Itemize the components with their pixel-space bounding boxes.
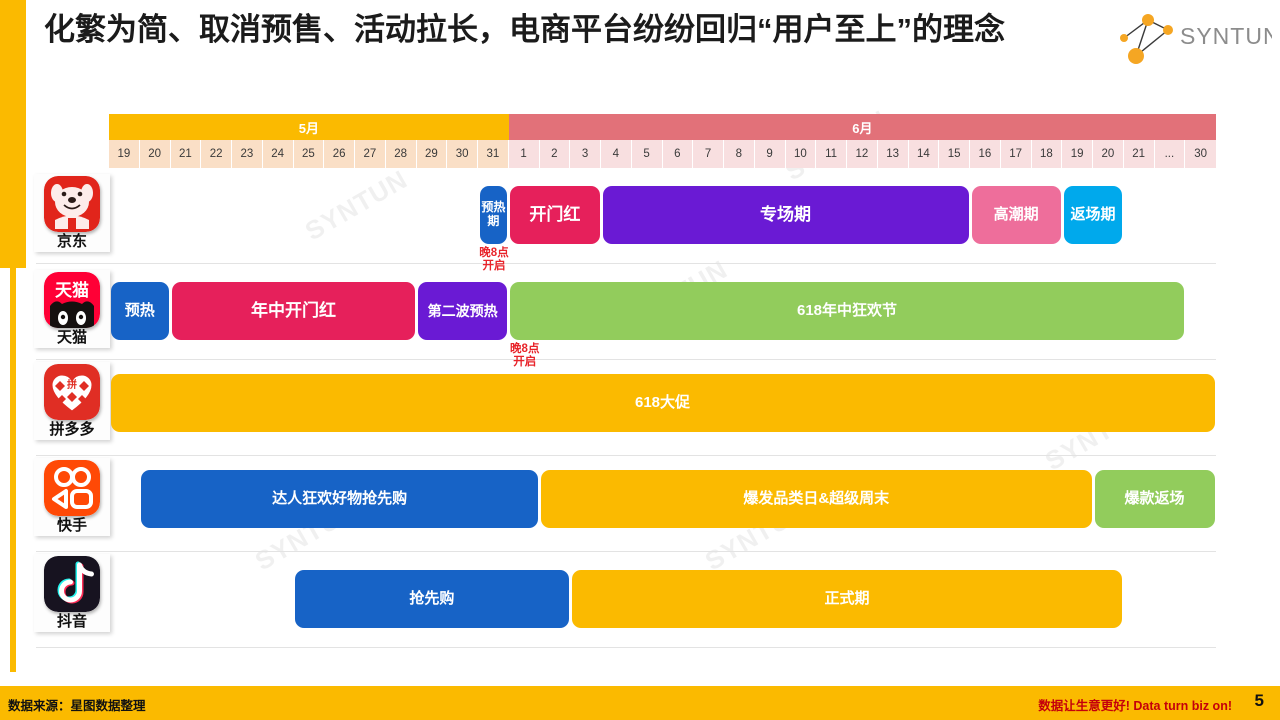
day-cell: 23 <box>232 140 263 168</box>
timeline-bar-天猫-2[interactable]: 年中开门红 <box>172 282 415 340</box>
day-cell: 10 <box>786 140 817 168</box>
day-cell: 18 <box>1032 140 1063 168</box>
page-number: 5 <box>1255 691 1264 711</box>
platform-row-拼多多: 拼拼多多618大促 <box>0 360 1280 456</box>
day-cell: 24 <box>263 140 294 168</box>
page-title: 化繁为简、取消预售、活动拉长，电商平台纷纷回归“用户至上”的理念 <box>44 10 1124 50</box>
month-header-1: 5月 <box>109 114 509 140</box>
platform-row-抖音: 抖音抢先购正式期 <box>0 552 1280 648</box>
svg-text:SYNTUN: SYNTUN <box>1180 23 1272 49</box>
platform-badge-拼多多[interactable]: 拼拼多多 <box>34 362 110 440</box>
platform-badge-快手[interactable]: 快手 <box>34 458 110 536</box>
jd-dog-icon <box>44 176 100 232</box>
day-header-row: 1920212223242526272829303112345678910111… <box>109 140 1216 168</box>
platform-row-快手: 快手达人狂欢好物抢先购爆发品类日&超级周末爆款返场 <box>0 456 1280 552</box>
day-cell: 2 <box>540 140 571 168</box>
day-cell: 19 <box>109 140 140 168</box>
day-cell: 19 <box>1062 140 1093 168</box>
timeline-grid: 5月6月 19202122232425262728293031123456789… <box>109 114 1216 168</box>
day-cell: 21 <box>171 140 202 168</box>
day-cell: 7 <box>693 140 724 168</box>
day-cell: 16 <box>970 140 1001 168</box>
day-cell: 27 <box>355 140 386 168</box>
douyin-icon <box>44 556 100 612</box>
timeline-bar-京东-3[interactable]: 专场期 <box>603 186 969 244</box>
platform-name: 快手 <box>57 517 87 535</box>
day-cell: 20 <box>1093 140 1124 168</box>
timeline-bar-拼多多-1[interactable]: 618大促 <box>111 374 1215 432</box>
month-header-row: 5月6月 <box>109 114 1216 140</box>
platform-name: 天猫 <box>57 329 87 347</box>
platform-name: 拼多多 <box>49 421 94 439</box>
day-cell: 26 <box>324 140 355 168</box>
timeline-bar-快手-2[interactable]: 爆发品类日&超级周末 <box>541 470 1092 528</box>
footer-slogan: 数据让生意更好! Data turn biz on! <box>1038 695 1232 714</box>
data-source-label: 数据来源：星图数据整理 <box>8 695 146 714</box>
timeline-bar-京东-4[interactable]: 高潮期 <box>972 186 1061 244</box>
day-cell: 29 <box>417 140 448 168</box>
svg-text:天猫: 天猫 <box>55 280 89 300</box>
day-cell: 31 <box>478 140 509 168</box>
platform-badge-天猫[interactable]: 天猫 天猫 <box>34 270 110 348</box>
day-cell: 17 <box>1001 140 1032 168</box>
day-cell: 6 <box>663 140 694 168</box>
syntun-logo: SYNTUN <box>1112 8 1272 66</box>
day-cell: 14 <box>909 140 940 168</box>
day-cell: 30 <box>1185 140 1216 168</box>
day-cell: ... <box>1155 140 1186 168</box>
platform-row-京东: 京东预热期开门红专场期高潮期返场期晚8点开启 <box>0 172 1280 264</box>
svg-text:拼: 拼 <box>67 378 77 391</box>
month-header-2: 6月 <box>509 114 1216 140</box>
timeline-bar-天猫-3[interactable]: 第二波预热 <box>418 282 507 340</box>
day-cell: 4 <box>601 140 632 168</box>
day-cell: 15 <box>939 140 970 168</box>
platform-badge-京东[interactable]: 京东 <box>34 174 110 252</box>
day-cell: 25 <box>294 140 325 168</box>
row-divider <box>36 647 1216 648</box>
day-cell: 13 <box>878 140 909 168</box>
day-cell: 22 <box>201 140 232 168</box>
day-cell: 11 <box>816 140 847 168</box>
day-cell: 9 <box>755 140 786 168</box>
timeline-bar-京东-2[interactable]: 开门红 <box>510 186 599 244</box>
day-cell: 30 <box>447 140 478 168</box>
day-cell: 8 <box>724 140 755 168</box>
platform-badge-抖音[interactable]: 抖音 <box>34 554 110 632</box>
day-cell: 20 <box>140 140 171 168</box>
timeline-bar-抖音-1[interactable]: 抢先购 <box>295 570 569 628</box>
day-cell: 5 <box>632 140 663 168</box>
kuaishou-icon <box>44 460 100 516</box>
syntun-network-icon: SYNTUN <box>1112 8 1272 66</box>
timeline-bar-抖音-2[interactable]: 正式期 <box>572 570 1123 628</box>
day-cell: 3 <box>570 140 601 168</box>
timeline-bar-快手-3[interactable]: 爆款返场 <box>1095 470 1215 528</box>
pdd-heart-icon: 拼 <box>44 364 100 420</box>
day-cell: 28 <box>386 140 417 168</box>
platform-row-天猫: 天猫 天猫预热年中开门红第二波预热618年中狂欢节晚8点开启 <box>0 268 1280 360</box>
day-cell: 21 <box>1124 140 1155 168</box>
timeline-bar-快手-1[interactable]: 达人狂欢好物抢先购 <box>141 470 538 528</box>
day-cell: 1 <box>509 140 540 168</box>
day-cell: 12 <box>847 140 878 168</box>
timeline-bar-天猫-1[interactable]: 预热 <box>111 282 170 340</box>
timeline-bar-天猫-4[interactable]: 618年中狂欢节 <box>510 282 1184 340</box>
timeline-bar-京东-1[interactable]: 预热期 <box>480 186 508 244</box>
tmall-cat-icon: 天猫 <box>44 272 100 328</box>
platform-name: 京东 <box>57 233 87 251</box>
platform-name: 抖音 <box>57 613 87 631</box>
row-divider <box>36 263 1216 264</box>
timeline-bar-京东-5[interactable]: 返场期 <box>1064 186 1123 244</box>
footer-bar: 数据来源：星图数据整理 数据让生意更好! Data turn biz on! 5 <box>0 686 1280 720</box>
